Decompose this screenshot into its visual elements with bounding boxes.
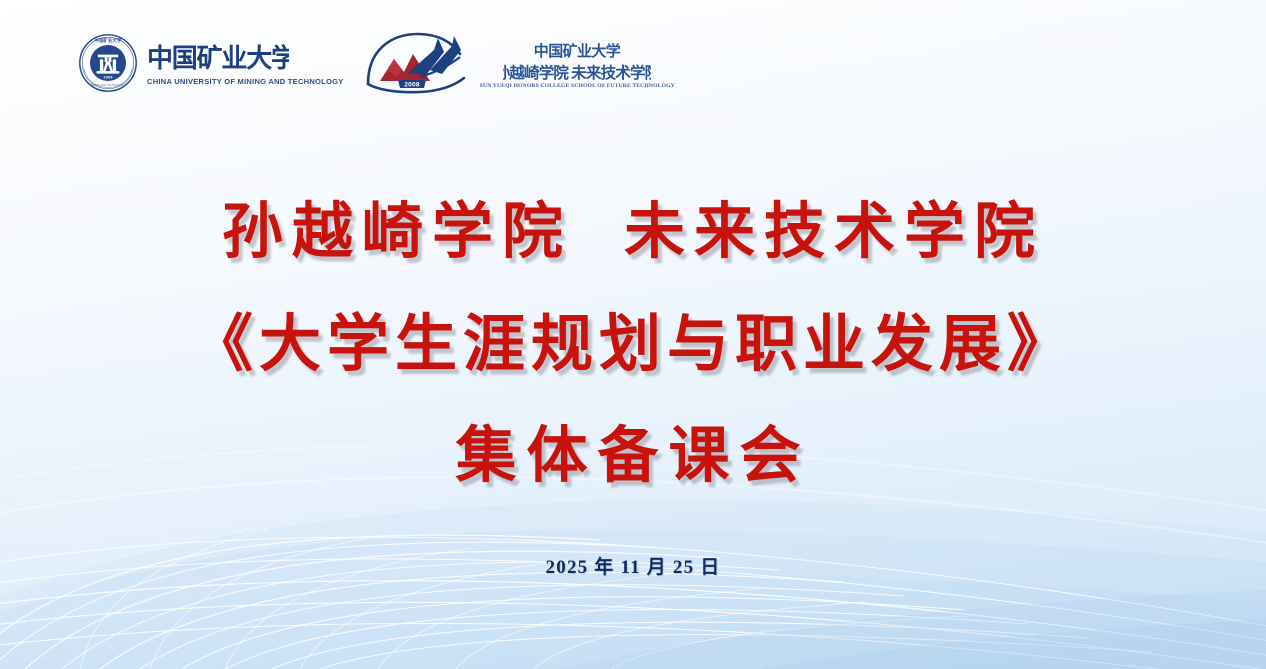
honors-name-cn-top-text: 中国矿业大学	[534, 42, 621, 60]
honors-name-cn-bottom-calligraphy: 孙越崎学院 未来技术学院	[503, 61, 651, 82]
title-line-1-part-1: 孙越崎学院	[222, 196, 572, 267]
presentation-title-slide: 1909 中国矿业大学 MINING AND TECHNOLOGY 中国矿业大学…	[0, 0, 1266, 669]
title-line-1: 孙越崎学院未来技术学院	[0, 176, 1266, 288]
logo-cumt: 1909 中国矿业大学 MINING AND TECHNOLOGY 中国矿业大学…	[78, 33, 340, 93]
honors-name-en: SUN YUEQI HONORS COLLEGE SCHOOL OF FUTUR…	[480, 83, 675, 89]
cumt-name-en: CHINA UNIVERSITY OF MINING AND TECHNOLOG…	[147, 77, 344, 86]
header-logos: 1909 中国矿业大学 MINING AND TECHNOLOGY 中国矿业大学…	[78, 30, 675, 96]
title-line-1-part-2: 未来技术学院	[624, 196, 1044, 267]
honors-name-cn-top-calligraphy: 中国矿业大学	[522, 40, 632, 60]
honors-wordmark: 中国矿业大学 孙越崎学院 未来技术学院 SUN YUEQI HONORS COL…	[480, 38, 675, 89]
svg-text:中国矿业大学: 中国矿业大学	[95, 37, 122, 44]
svg-text:MINING AND TECHNOLOGY: MINING AND TECHNOLOGY	[91, 84, 126, 87]
cumt-seal-icon: 1909 中国矿业大学 MINING AND TECHNOLOGY	[78, 33, 138, 93]
cumt-name-cn-calligraphy: 中国矿业大学	[147, 41, 289, 75]
cumt-wordmark: 中国矿业大学 CHINA UNIVERSITY OF MINING AND TE…	[147, 41, 340, 86]
svg-text:1909: 1909	[103, 76, 112, 80]
logo-honors-college: 2008 中国矿业大学 孙越崎学院 未来技术学院 SUN YUEQI HONOR…	[364, 30, 675, 96]
honors-name-cn-bottom-text: 孙越崎学院 未来技术学院	[503, 63, 651, 82]
title-line-3: 集体备课会	[0, 400, 1266, 512]
mountain-book-emblem-icon: 2008	[364, 30, 472, 96]
title-block: 孙越崎学院未来技术学院 《大学生涯规划与职业发展》 集体备课会	[0, 176, 1266, 512]
event-date: 2025 年 11 月 25 日	[0, 552, 1266, 579]
cumt-name-cn-text: 中国矿业大学	[147, 43, 289, 73]
title-line-2: 《大学生涯规划与职业发展》	[0, 288, 1266, 400]
emblem-year-text: 2008	[404, 81, 420, 88]
